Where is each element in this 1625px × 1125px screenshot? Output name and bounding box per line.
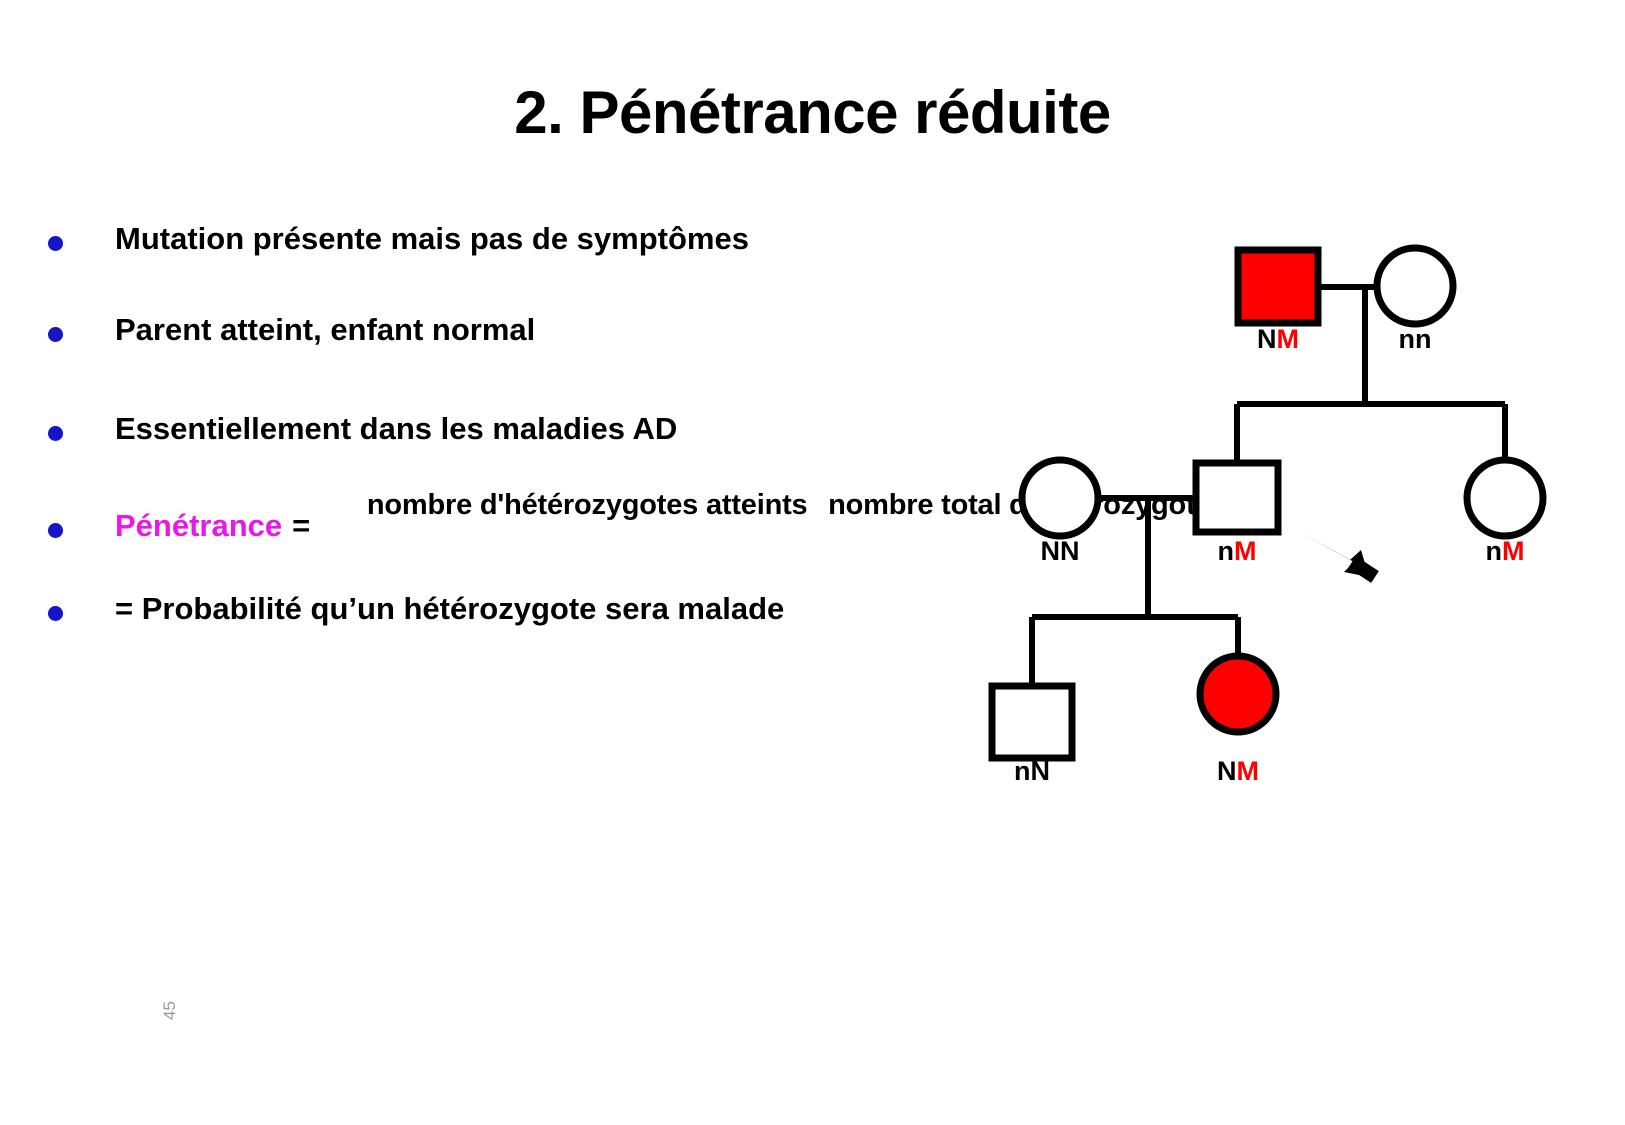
allele-1-i-3-1: n	[1014, 756, 1031, 786]
bullet-dot-icon	[48, 236, 63, 251]
pedigree-label-i-1-2: nn	[1399, 324, 1432, 354]
pedigree-node-i-2-1[interactable]	[1022, 460, 1098, 536]
proband-arrow-icon	[1296, 530, 1375, 577]
allele-2-i-2-2: M	[1234, 536, 1257, 566]
allele-1-i-1-1: N	[1257, 324, 1277, 354]
pedigree-label-i-3-2: NM	[1217, 756, 1259, 786]
bullet-dot-icon	[48, 426, 63, 441]
pedigree-chart: NM nn NN nM	[900, 200, 1580, 820]
pedigree-label-i-3-1: nN	[1014, 756, 1050, 786]
pedigree-node-i-3-2[interactable]	[1200, 656, 1276, 732]
pedigree-node-i-1-2[interactable]	[1377, 248, 1453, 324]
slide-canvas: 2. Pénétrance réduite Mutation présente …	[0, 0, 1625, 1125]
bullet-label-4: = Probabilité qu’un hétérozygote sera ma…	[115, 592, 784, 626]
equals-sign: =	[292, 508, 310, 543]
pedigree-label-i-2-2: nM	[1218, 536, 1257, 566]
allele-1-i-3-2: N	[1217, 756, 1237, 786]
pedigree-node-i-3-1[interactable]	[992, 686, 1072, 758]
pedigree-node-i-2-3[interactable]	[1467, 460, 1543, 536]
allele-2-i-2-1: N	[1060, 536, 1080, 566]
allele-1-i-2-3: n	[1486, 536, 1503, 566]
allele-2-i-3-2: M	[1237, 756, 1260, 786]
bullet-label-3: Essentiellement dans les maladies AD	[115, 412, 677, 446]
pedigree-label-i-2-3: nM	[1486, 536, 1525, 566]
bullet-label-2: Parent atteint, enfant normal	[115, 313, 535, 347]
allele-2-i-3-1: N	[1031, 756, 1051, 786]
allele-1-i-2-1: N	[1041, 536, 1061, 566]
allele-1-i-1-2: n	[1399, 324, 1416, 354]
allele-2-i-2-3: M	[1502, 536, 1525, 566]
allele-2-i-1-1: M	[1277, 324, 1300, 354]
pedigree-label-i-1-1: NM	[1257, 324, 1299, 354]
page-title: 2. Pénétrance réduite	[0, 78, 1625, 147]
bullet-item-1: Mutation présente mais pas de symptômes	[48, 222, 749, 256]
bullet-item-3: Essentiellement dans les maladies AD	[48, 412, 677, 446]
allele-2-i-1-2: n	[1415, 324, 1432, 354]
fraction-numerator: nombre d'hétérozygotes atteints	[361, 489, 814, 521]
penetrance-term: Pénétrance	[115, 508, 282, 543]
pedigree-node-i-1-1[interactable]	[1238, 250, 1318, 323]
slide-number-mark: 45	[160, 1001, 180, 1020]
bullet-dot-icon	[48, 327, 63, 342]
pedigree-node-i-2-2[interactable]	[1196, 463, 1278, 532]
bullet-item-4: = Probabilité qu’un hétérozygote sera ma…	[48, 592, 784, 626]
bullet-dot-icon	[48, 606, 63, 621]
bullet-label-1: Mutation présente mais pas de symptômes	[115, 222, 749, 256]
pedigree-label-i-2-1: NN	[1041, 536, 1080, 566]
bullet-dot-icon	[48, 523, 63, 538]
allele-1-i-2-2: n	[1218, 536, 1235, 566]
bullet-item-2: Parent atteint, enfant normal	[48, 313, 535, 347]
